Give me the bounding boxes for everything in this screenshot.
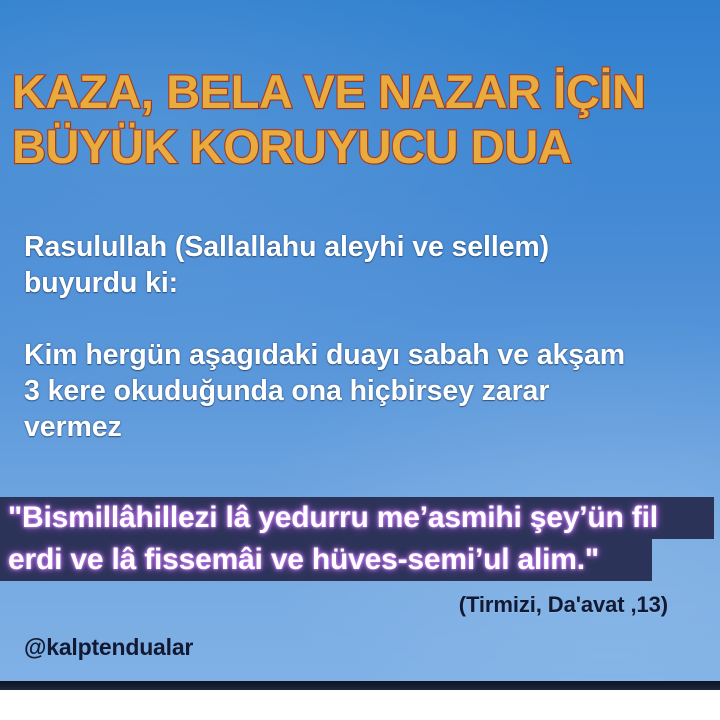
account-handle: @kalptendualar bbox=[24, 632, 193, 662]
dua-line-2: erdi ve lâ fissemâi ve hüves-semi’ul ali… bbox=[0, 539, 652, 581]
body-text-block: Rasulullah (Sallallahu aleyhi ve sellem)… bbox=[24, 200, 720, 473]
hadith-instruction-paragraph: Kim hergün aşagıdaki duayı sabah ve akşa… bbox=[24, 337, 720, 445]
dua-poster: KAZA, BELA VE NAZAR İÇİN BÜYÜK KORUYUCU … bbox=[0, 0, 720, 720]
source-citation: (Tirmizi, Da'avat ,13) bbox=[459, 591, 668, 619]
poster-content: KAZA, BELA VE NAZAR İÇİN BÜYÜK KORUYUCU … bbox=[0, 0, 720, 720]
dua-line-1: "Bismillâhillezi lâ yedurru me’asmihi şe… bbox=[0, 497, 714, 539]
hadith-intro-paragraph: Rasulullah (Sallallahu aleyhi ve sellem)… bbox=[24, 229, 720, 301]
page-title: KAZA, BELA VE NAZAR İÇİN BÜYÜK KORUYUCU … bbox=[12, 64, 718, 174]
dua-highlight-block: "Bismillâhillezi lâ yedurru me’asmihi şe… bbox=[0, 497, 720, 581]
